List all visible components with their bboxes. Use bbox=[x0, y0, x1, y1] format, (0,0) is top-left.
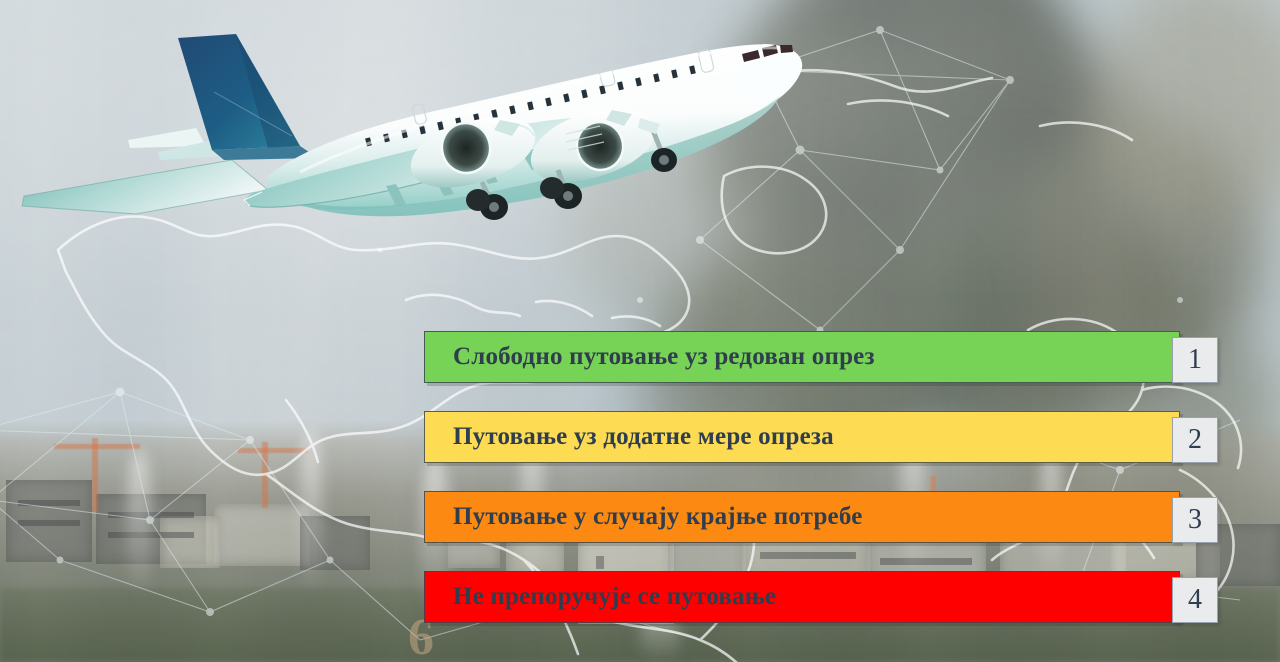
level-3-label: Путовање у случају крајње потребе bbox=[425, 503, 863, 531]
legend-row-3: Путовање у случају крајње потребе 3 bbox=[424, 491, 1180, 543]
level-4-bar[interactable]: Не препоручује се путовање bbox=[424, 571, 1180, 623]
level-1-bar[interactable]: Слободно путовање уз редован опрез bbox=[424, 331, 1180, 383]
level-2-number-badge: 2 bbox=[1172, 417, 1218, 463]
level-3-number-badge: 3 bbox=[1172, 497, 1218, 543]
travel-advisory-slide: 6 Слободно путовање уз редован опрез 1 П… bbox=[0, 0, 1280, 662]
legend-row-4: Не препоручује се путовање 4 bbox=[424, 571, 1180, 623]
advisory-legend: Слободно путовање уз редован опрез 1 Пут… bbox=[424, 331, 1180, 651]
level-2-label: Путовање уз додатне мере опреза bbox=[425, 423, 834, 451]
level-2-bar[interactable]: Путовање уз додатне мере опреза bbox=[424, 411, 1180, 463]
level-1-number-badge: 1 bbox=[1172, 337, 1218, 383]
legend-row-2: Путовање уз додатне мере опреза 2 bbox=[424, 411, 1180, 463]
level-1-label: Слободно путовање уз редован опрез bbox=[425, 343, 875, 371]
level-3-bar[interactable]: Путовање у случају крајње потребе bbox=[424, 491, 1180, 543]
legend-row-1: Слободно путовање уз редован опрез 1 bbox=[424, 331, 1180, 383]
level-4-label: Не препоручује се путовање bbox=[425, 583, 776, 611]
level-4-number-badge: 4 bbox=[1172, 577, 1218, 623]
